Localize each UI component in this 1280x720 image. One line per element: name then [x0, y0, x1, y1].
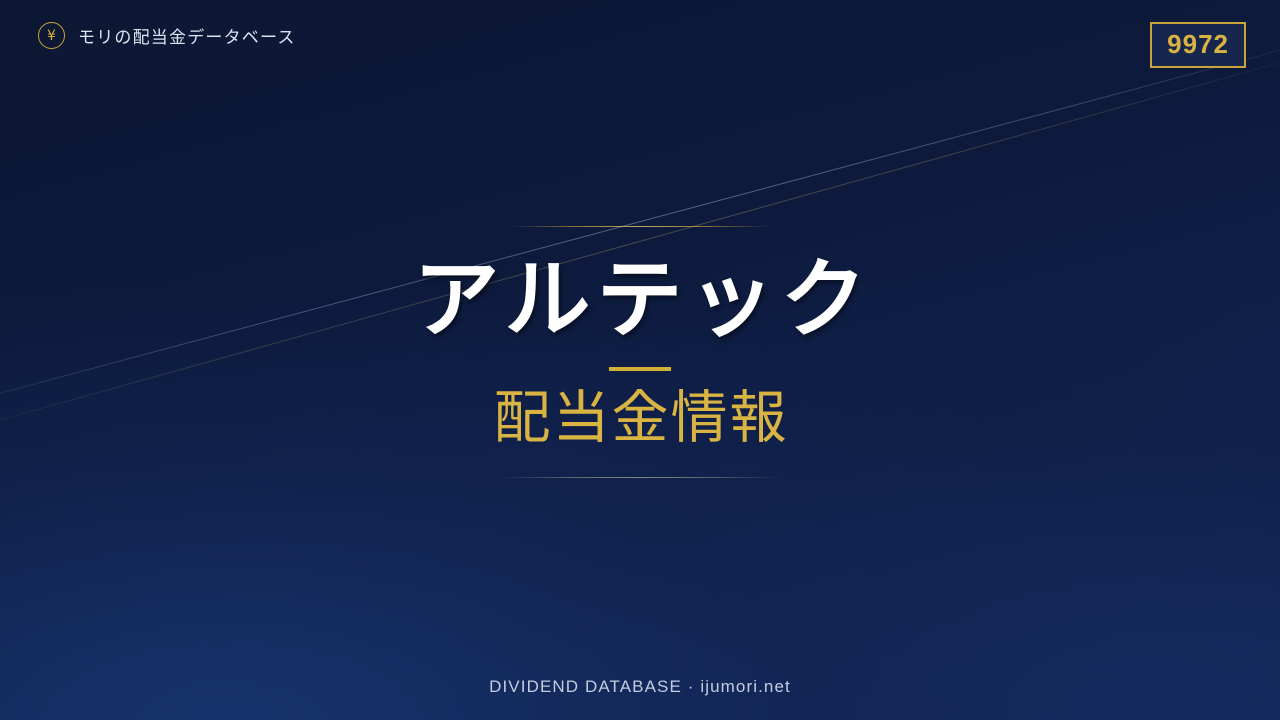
slide-canvas: ¥ モリの配当金データベース 9972 アルテック 配当金情報 DIVIDEND…	[0, 0, 1280, 720]
brand[interactable]: ¥ モリの配当金データベース	[38, 22, 296, 49]
divider-top	[509, 226, 771, 227]
divider-gold	[609, 367, 671, 371]
divider-bottom	[500, 477, 780, 478]
page-subtitle: 配当金情報	[492, 387, 789, 450]
company-name: アルテック	[407, 257, 872, 345]
footer-text: DIVIDEND DATABASE · ijumori.net	[489, 677, 791, 697]
hero-section: アルテック 配当金情報	[0, 0, 1280, 720]
yen-circle-icon: ¥	[38, 22, 65, 49]
ticker-code-badge: 9972	[1150, 22, 1246, 68]
page-header: ¥ モリの配当金データベース 9972	[0, 0, 1280, 90]
brand-name: モリの配当金データベース	[78, 23, 296, 48]
page-footer: DIVIDEND DATABASE · ijumori.net	[0, 654, 1280, 720]
